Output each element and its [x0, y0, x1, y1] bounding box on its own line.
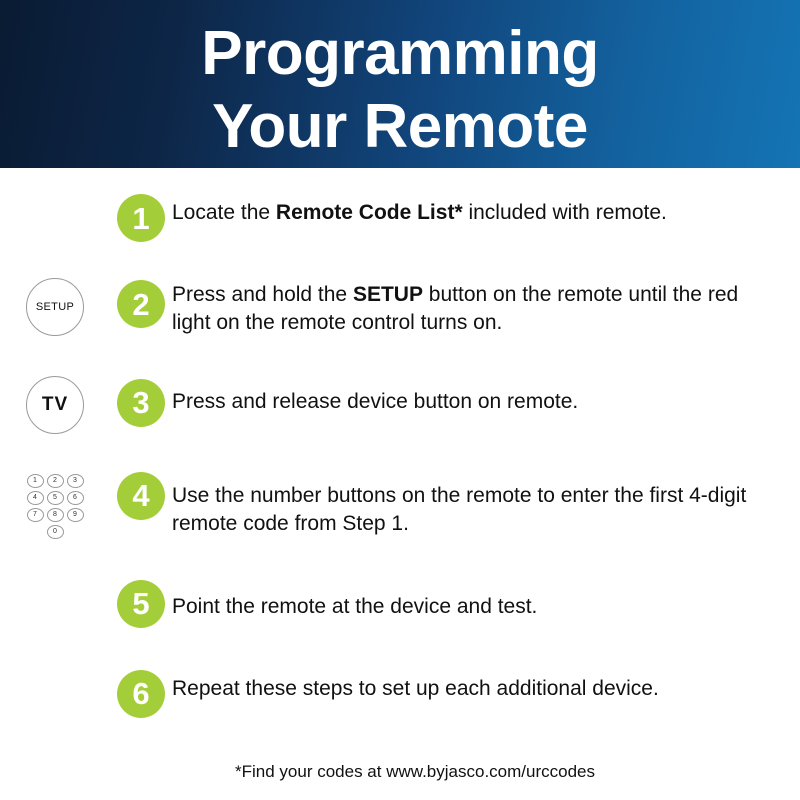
step-2-text: Press and hold the SETUP button on the r…: [172, 276, 758, 337]
step-3-text: Press and release device button on remot…: [172, 383, 758, 416]
step-1-text-slot: Locate the Remote Code List* included wi…: [172, 194, 800, 227]
step-5-badge: 5: [117, 580, 165, 628]
step-2-badge: 2: [117, 280, 165, 328]
step-3-badge: 3: [117, 379, 165, 427]
step-5-text-part-1: Point the remote at the device and test.: [172, 595, 537, 618]
number-keypad-icon: 1 2 3 4 5 6 7 8 9 0: [24, 474, 86, 542]
step-2-icon-slot: SETUP: [0, 276, 110, 336]
step-3-text-part-1: Press and release device button on remot…: [172, 390, 578, 413]
programming-remote-infographic: Programming Your Remote 1 Locate the Rem…: [0, 0, 800, 800]
step-3-icon-slot: TV: [0, 375, 110, 434]
tv-button-label: TV: [42, 394, 68, 416]
keypad-key: 8: [47, 508, 64, 522]
keypad-row: 4 5 6: [24, 491, 86, 505]
keypad-key: 0: [47, 525, 64, 539]
step-5-number-slot: 5: [110, 580, 172, 628]
step-6-text-slot: Repeat these steps to set up each additi…: [172, 670, 800, 703]
page-title: Programming Your Remote: [0, 18, 800, 163]
keypad-key: 6: [67, 491, 84, 505]
step-4: 1 2 3 4 5 6 7 8 9 0: [0, 470, 800, 542]
page-title-line-1: Programming: [201, 19, 599, 88]
step-3: TV 3 Press and release device button on …: [0, 375, 800, 434]
step-1-text-part-3: included with remote.: [463, 201, 667, 224]
step-3-text-slot: Press and release device button on remot…: [172, 375, 800, 416]
step-4-text: Use the number buttons on the remote to …: [172, 477, 758, 538]
step-1-text: Locate the Remote Code List* included wi…: [172, 194, 758, 227]
header-banner: Programming Your Remote: [0, 0, 800, 168]
step-4-number-slot: 4: [110, 470, 172, 520]
step-2: SETUP 2 Press and hold the SETUP button …: [0, 276, 800, 337]
step-6-text: Repeat these steps to set up each additi…: [172, 670, 758, 703]
tv-button-icon: TV: [26, 376, 84, 434]
step-2-number-slot: 2: [110, 276, 172, 328]
keypad-key: 2: [47, 474, 64, 488]
keypad-key: 5: [47, 491, 64, 505]
step-6-text-part-1: Repeat these steps to set up each additi…: [172, 677, 659, 700]
step-2-text-slot: Press and hold the SETUP button on the r…: [172, 276, 800, 337]
step-1-number-slot: 1: [110, 194, 172, 242]
keypad-key: 7: [27, 508, 44, 522]
step-2-text-part-2: SETUP: [353, 283, 423, 306]
step-1-badge: 1: [117, 194, 165, 242]
footer-note: *Find your codes at www.byjasco.com/urcc…: [0, 762, 800, 782]
page-title-line-2: Your Remote: [0, 91, 800, 164]
keypad-key: 3: [67, 474, 84, 488]
step-2-text-part-1: Press and hold the: [172, 283, 353, 306]
step-6: 6 Repeat these steps to set up each addi…: [0, 670, 800, 718]
keypad-key: 9: [67, 508, 84, 522]
keypad-row: 1 2 3: [24, 474, 86, 488]
step-1: 1 Locate the Remote Code List* included …: [0, 194, 800, 242]
step-4-badge: 4: [117, 472, 165, 520]
step-3-number-slot: 3: [110, 375, 172, 427]
steps-list: 1 Locate the Remote Code List* included …: [0, 194, 800, 718]
keypad-row: 7 8 9: [24, 508, 86, 522]
step-1-text-part-2: Remote Code List*: [276, 201, 463, 224]
setup-button-label: SETUP: [36, 301, 74, 313]
step-5: 5 Point the remote at the device and tes…: [0, 580, 800, 628]
step-4-text-part-1: Use the number buttons on the remote to …: [172, 484, 746, 535]
step-1-text-part-1: Locate the: [172, 201, 276, 224]
step-4-text-slot: Use the number buttons on the remote to …: [172, 470, 800, 538]
step-6-number-slot: 6: [110, 670, 172, 718]
step-6-badge: 6: [117, 670, 165, 718]
setup-button-icon: SETUP: [26, 278, 84, 336]
keypad-key: 1: [27, 474, 44, 488]
step-5-text: Point the remote at the device and test.: [172, 588, 758, 621]
step-5-text-slot: Point the remote at the device and test.: [172, 580, 800, 621]
keypad-key: 4: [27, 491, 44, 505]
keypad-row: 0: [24, 525, 86, 539]
step-4-icon-slot: 1 2 3 4 5 6 7 8 9 0: [0, 470, 110, 542]
